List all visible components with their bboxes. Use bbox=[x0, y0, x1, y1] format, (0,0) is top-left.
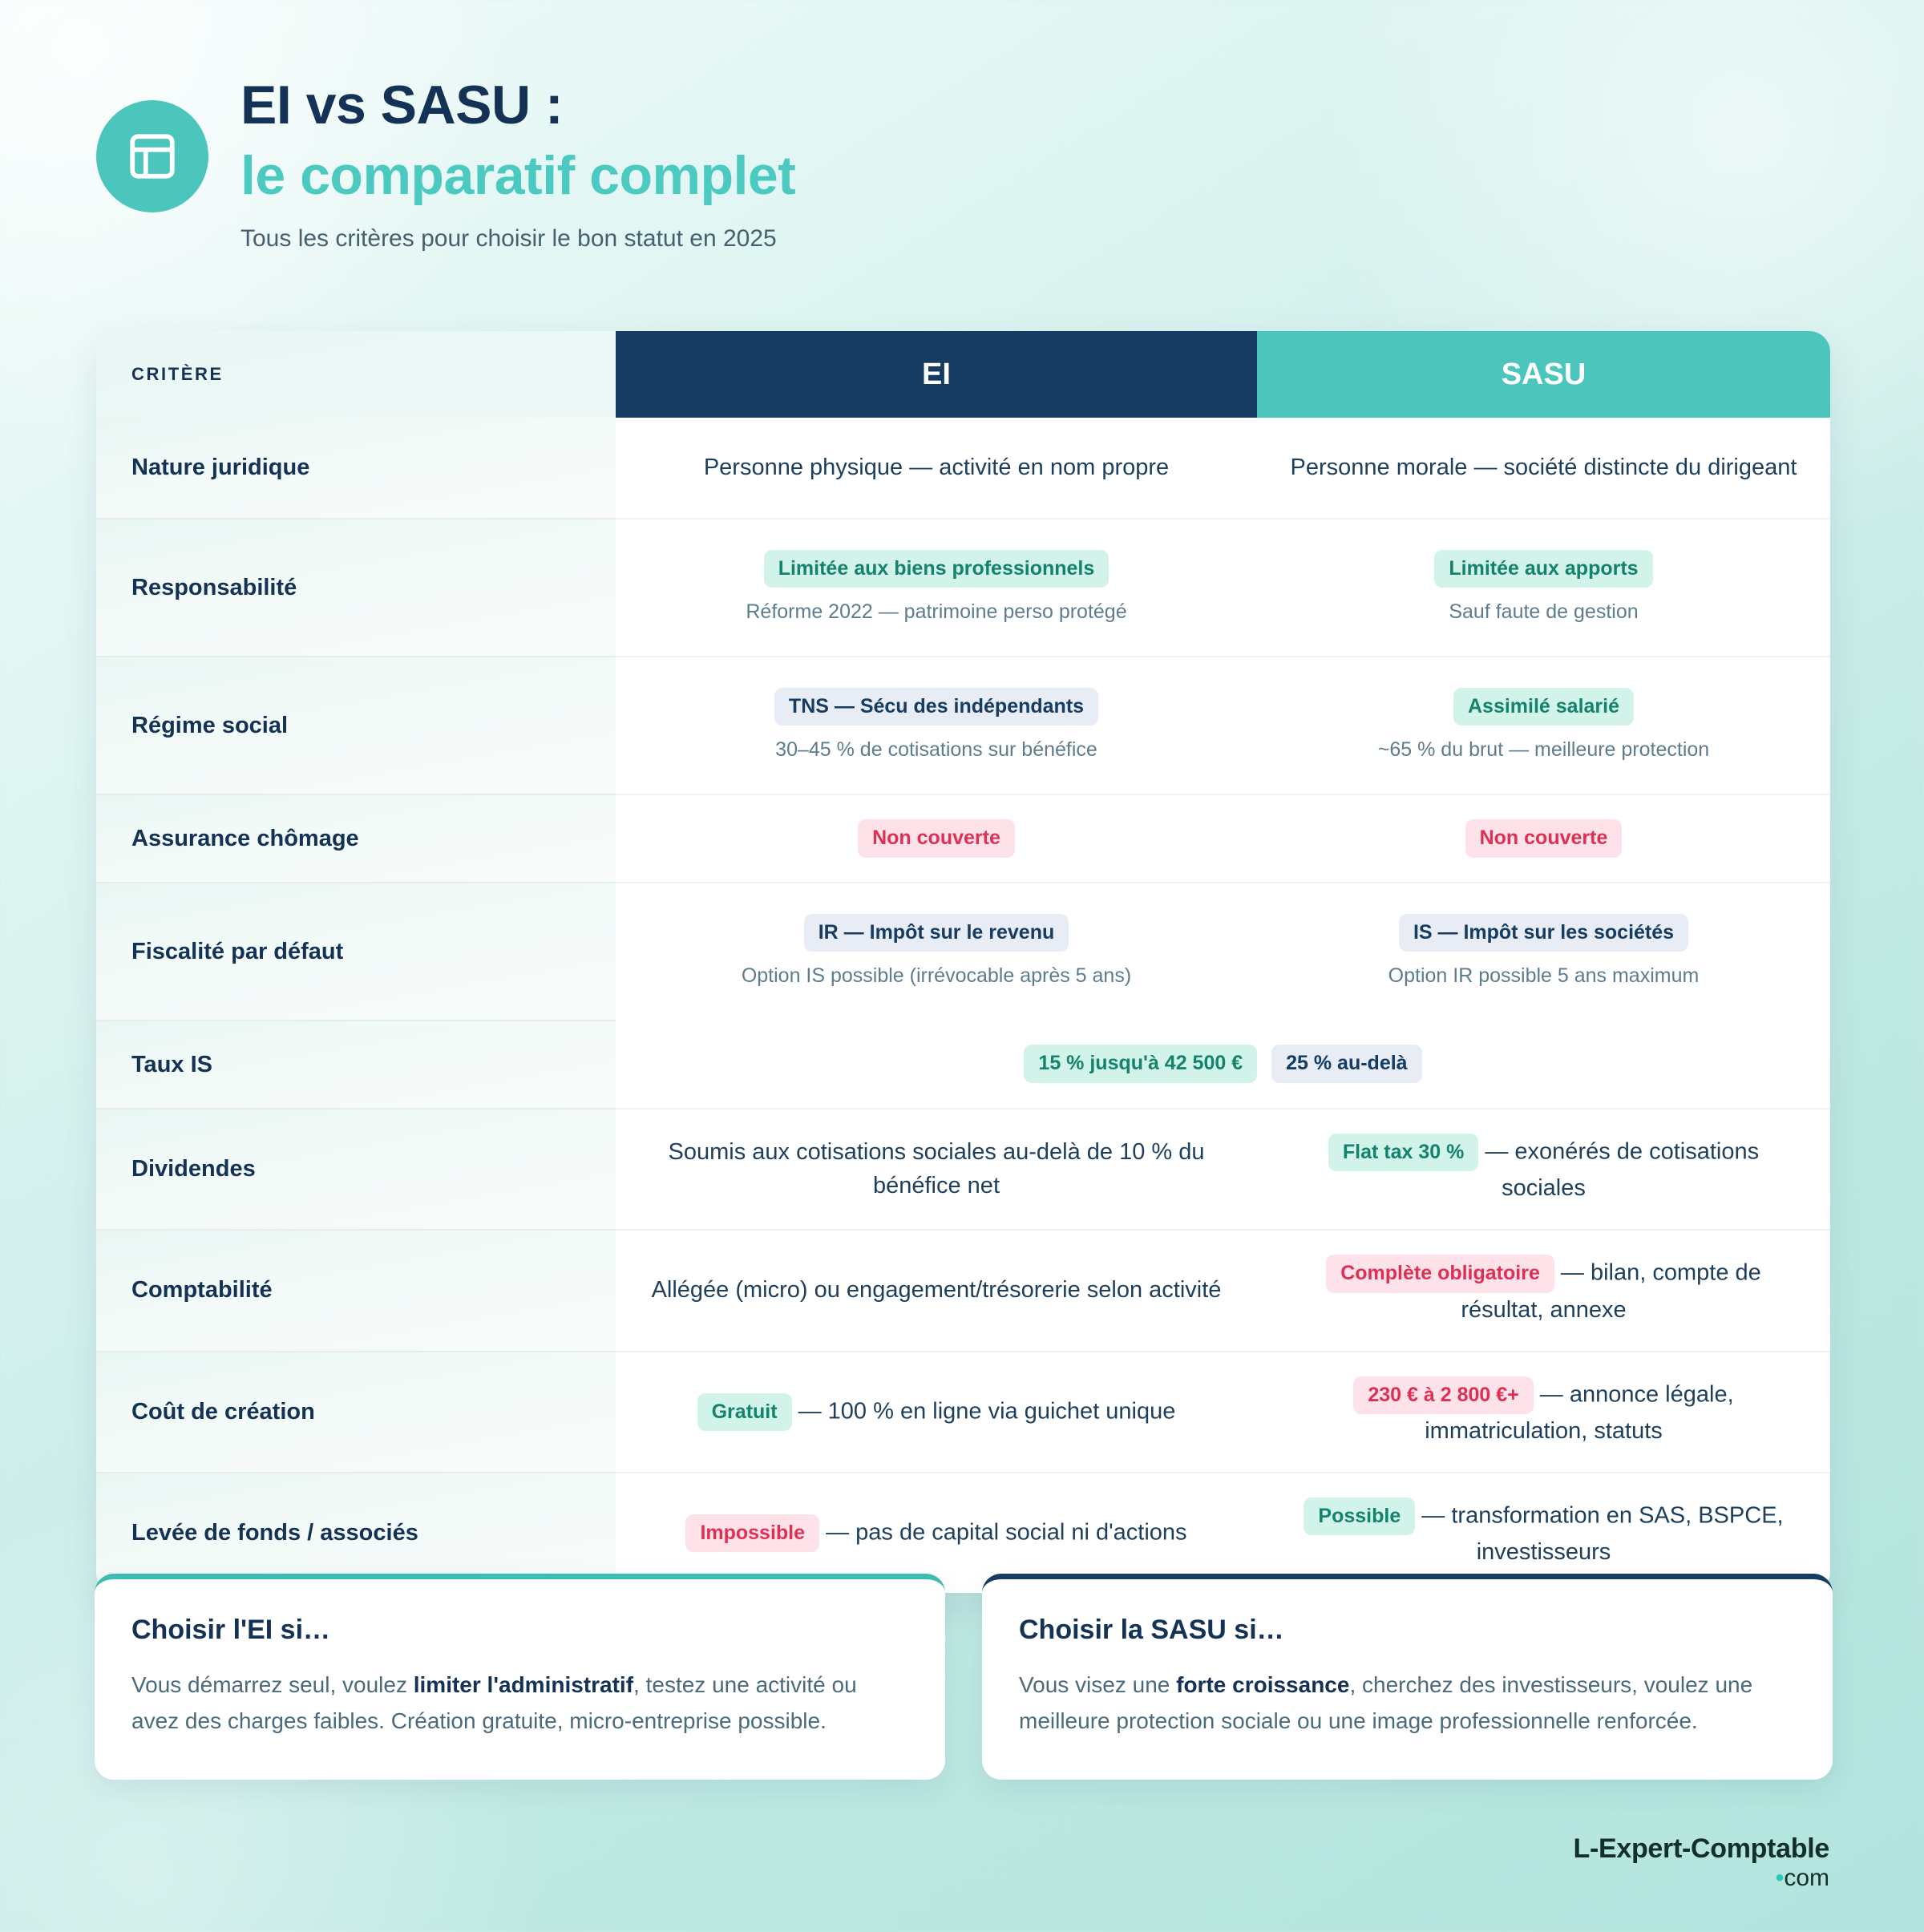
column-header-ei: EI bbox=[616, 331, 1257, 418]
badge-line: Assimilé salarié bbox=[1453, 688, 1634, 726]
badge-trailing-text: — transformation en SAS, BSPCE, investis… bbox=[1415, 1502, 1783, 1565]
criterion-label: Fiscalité par défaut bbox=[96, 882, 616, 1020]
cell-ei: Personne physique — activité en nom prop… bbox=[616, 418, 1257, 518]
badge-line: Gratuit — 100 % en ligne via guichet uni… bbox=[697, 1393, 1176, 1431]
card-choose-ei: Choisir l'EI si… Vous démarrez seul, vou… bbox=[95, 1574, 945, 1780]
table-row: Assurance chômageNon couverteNon couvert… bbox=[96, 794, 1830, 882]
criterion-label: Taux IS bbox=[96, 1020, 616, 1108]
page-tagline: Tous les critères pour choisir le bon st… bbox=[240, 225, 795, 253]
cell-subtext: 30–45 % de cotisations sur bénéfice bbox=[775, 737, 1097, 764]
card-sasu-body-pre: Vous visez une bbox=[1019, 1672, 1176, 1697]
table-row: ComptabilitéAllégée (micro) ou engagemen… bbox=[96, 1229, 1830, 1350]
table-layout-icon bbox=[96, 100, 208, 212]
badge-line: Impossible — pas de capital social ni d'… bbox=[685, 1514, 1186, 1552]
card-sasu-body: Vous visez une forte croissance, cherche… bbox=[1019, 1667, 1796, 1740]
criterion-label: Responsabilité bbox=[96, 518, 616, 656]
table-row: Fiscalité par défautIR — Impôt sur le re… bbox=[96, 882, 1830, 1020]
criterion-label: Assurance chômage bbox=[96, 794, 616, 882]
card-ei-body: Vous démarrez seul, voulez limiter l'adm… bbox=[131, 1667, 908, 1740]
cell-text: Personne physique — activité en nom prop… bbox=[704, 451, 1169, 484]
card-choose-sasu: Choisir la SASU si… Vous visez une forte… bbox=[982, 1574, 1833, 1780]
badge-trailing-text: — pas de capital social ni d'actions bbox=[819, 1519, 1187, 1545]
card-ei-body-pre: Vous démarrez seul, voulez bbox=[131, 1672, 414, 1697]
logo-wordmark: L-Expert-Comptable bbox=[1573, 1835, 1829, 1864]
cell-ei: Soumis aux cotisations sociales au-delà … bbox=[616, 1108, 1257, 1229]
column-header-sasu: SASU bbox=[1257, 331, 1830, 418]
value-badge: Possible bbox=[1304, 1498, 1415, 1535]
column-header-criterion: CRITÈRE bbox=[96, 331, 616, 418]
value-badge: 230 € à 2 800 €+ bbox=[1353, 1376, 1533, 1414]
cell-text: Soumis aux cotisations sociales au-delà … bbox=[643, 1136, 1230, 1202]
cell-sasu: Flat tax 30 % — exonérés de cotisations … bbox=[1257, 1108, 1830, 1229]
table-row: Taux IS15 % jusqu'à 42 500 €25 % au-delà bbox=[96, 1020, 1830, 1108]
badge-trailing-text: — 100 % en ligne via guichet unique bbox=[792, 1398, 1176, 1424]
logo-dot: • bbox=[1776, 1865, 1785, 1891]
page-title: EI vs SASU : bbox=[240, 76, 795, 134]
badge-line: Non couverte bbox=[858, 819, 1015, 857]
criterion-label: Comptabilité bbox=[96, 1229, 616, 1350]
badge-line: IS — Impôt sur les sociétés bbox=[1399, 914, 1688, 952]
cell-text: Allégée (micro) ou engagement/trésorerie… bbox=[652, 1274, 1222, 1307]
cell-sasu: Personne morale — société distincte du d… bbox=[1257, 418, 1830, 518]
criterion-label: Nature juridique bbox=[96, 418, 616, 518]
cell-sasu: Limitée aux apportsSauf faute de gestion bbox=[1257, 518, 1830, 656]
header-titles: EI vs SASU : le comparatif complet Tous … bbox=[240, 76, 795, 253]
page-header: EI vs SASU : le comparatif complet Tous … bbox=[96, 76, 795, 253]
badge-line: Limitée aux biens professionnels bbox=[764, 550, 1110, 588]
table-header-row: CRITÈRE EI SASU bbox=[96, 331, 1830, 418]
criterion-label: Régime social bbox=[96, 656, 616, 794]
table-row: Coût de créationGratuit — 100 % en ligne… bbox=[96, 1351, 1830, 1472]
recommendation-cards: Choisir l'EI si… Vous démarrez seul, vou… bbox=[95, 1574, 1833, 1780]
badge-line: Flat tax 30 % — exonérés de cotisations … bbox=[1284, 1134, 1803, 1205]
badge-line: Non couverte bbox=[1465, 819, 1623, 857]
value-badge: IR — Impôt sur le revenu bbox=[804, 914, 1069, 952]
badge-line: 230 € à 2 800 €+ — annonce légale, immat… bbox=[1284, 1376, 1803, 1448]
table-row: Nature juridiquePersonne physique — acti… bbox=[96, 418, 1830, 518]
badge-trailing-text: — exonérés de cotisations sociales bbox=[1478, 1138, 1759, 1201]
value-badge: Assimilé salarié bbox=[1453, 688, 1634, 726]
value-badge: Gratuit bbox=[697, 1393, 792, 1431]
table-body: Nature juridiquePersonne physique — acti… bbox=[96, 418, 1830, 1593]
cell-text: Personne morale — société distincte du d… bbox=[1291, 451, 1797, 484]
badge-line: TNS — Sécu des indépendants bbox=[774, 688, 1098, 726]
cell-sasu: IS — Impôt sur les sociétésOption IR pos… bbox=[1257, 882, 1830, 1020]
logo-tld-text: com bbox=[1784, 1865, 1829, 1891]
cell-subtext: Réforme 2022 — patrimoine perso protégé bbox=[746, 599, 1126, 626]
cell-subtext: Sauf faute de gestion bbox=[1449, 599, 1638, 626]
cell-ei: Limitée aux biens professionnelsRéforme … bbox=[616, 518, 1257, 656]
cell-ei: IR — Impôt sur le revenuOption IS possib… bbox=[616, 882, 1257, 1020]
cell-sasu: Assimilé salarié~65 % du brut — meilleur… bbox=[1257, 656, 1830, 794]
card-ei-body-bold: limiter l'administratif bbox=[414, 1672, 633, 1697]
badge-line: IR — Impôt sur le revenu bbox=[804, 914, 1069, 952]
badge-line: Limitée aux apports bbox=[1434, 550, 1652, 588]
cell-both-columns: 15 % jusqu'à 42 500 €25 % au-delà bbox=[616, 1020, 1830, 1108]
cell-ei: Gratuit — 100 % en ligne via guichet uni… bbox=[616, 1351, 1257, 1472]
value-badge: 15 % jusqu'à 42 500 € bbox=[1024, 1045, 1257, 1082]
card-ei-title: Choisir l'EI si… bbox=[131, 1615, 908, 1646]
value-badge: Flat tax 30 % bbox=[1328, 1134, 1478, 1171]
value-badge: Limitée aux apports bbox=[1434, 550, 1652, 588]
criterion-label: Coût de création bbox=[96, 1351, 616, 1472]
cell-ei: Allégée (micro) ou engagement/trésorerie… bbox=[616, 1229, 1257, 1350]
criterion-label: Dividendes bbox=[96, 1108, 616, 1229]
value-badge: Non couverte bbox=[1465, 819, 1623, 857]
cell-sasu: Complète obligatoire — bilan, compte de … bbox=[1257, 1229, 1830, 1350]
cell-ei: Non couverte bbox=[616, 794, 1257, 882]
cell-sasu: Non couverte bbox=[1257, 794, 1830, 882]
card-sasu-body-bold: forte croissance bbox=[1176, 1672, 1349, 1697]
table-row: ResponsabilitéLimitée aux biens professi… bbox=[96, 518, 1830, 656]
value-badge: Limitée aux biens professionnels bbox=[764, 550, 1110, 588]
cell-ei: TNS — Sécu des indépendants30–45 % de co… bbox=[616, 656, 1257, 794]
page-subtitle-accent: le comparatif complet bbox=[240, 145, 795, 206]
value-badge: TNS — Sécu des indépendants bbox=[774, 688, 1098, 726]
value-badge: Impossible bbox=[685, 1514, 819, 1552]
value-badge: 25 % au-delà bbox=[1271, 1045, 1421, 1082]
value-badge: Complète obligatoire bbox=[1326, 1255, 1554, 1292]
card-sasu-title: Choisir la SASU si… bbox=[1019, 1615, 1796, 1646]
cell-subtext: ~65 % du brut — meilleure protection bbox=[1378, 737, 1709, 764]
table-row: DividendesSoumis aux cotisations sociale… bbox=[96, 1108, 1830, 1229]
table-row: Régime socialTNS — Sécu des indépendants… bbox=[96, 656, 1830, 794]
brand-logo: L-Expert-Comptable •com bbox=[1573, 1835, 1829, 1890]
value-badge: IS — Impôt sur les sociétés bbox=[1399, 914, 1688, 952]
badge-line: Possible — transformation en SAS, BSPCE,… bbox=[1284, 1498, 1803, 1569]
comparison-table: CRITÈRE EI SASU Nature juridiquePersonne… bbox=[96, 331, 1830, 1593]
logo-tld: •com bbox=[1573, 1865, 1829, 1891]
badge-line: Complète obligatoire — bilan, compte de … bbox=[1284, 1255, 1803, 1326]
cell-sasu: 230 € à 2 800 €+ — annonce légale, immat… bbox=[1257, 1351, 1830, 1472]
cell-subtext: Option IS possible (irrévocable après 5 … bbox=[742, 963, 1131, 990]
value-badge: Non couverte bbox=[858, 819, 1015, 857]
cell-subtext: Option IR possible 5 ans maximum bbox=[1388, 963, 1700, 990]
